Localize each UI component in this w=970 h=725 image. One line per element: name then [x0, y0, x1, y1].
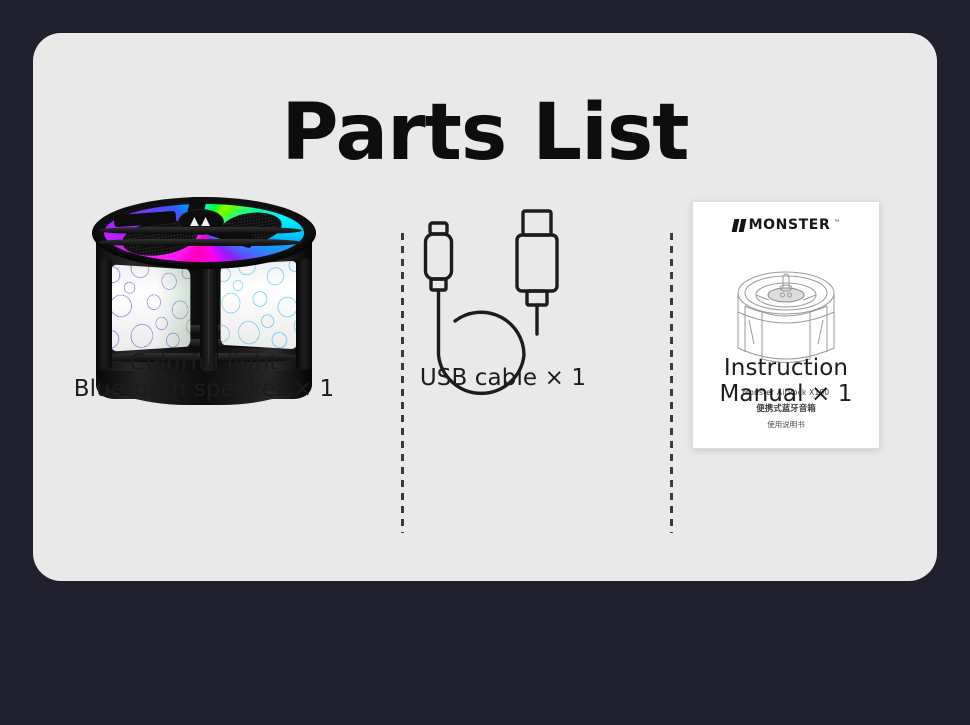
trademark-symbol: ™ — [834, 219, 839, 225]
part-caption-manual: Instruction Manual × 1 — [641, 355, 931, 407]
manual-artwork: MONSTER ™ — [641, 193, 931, 455]
manual-doctype-cn: 使用说明书 — [693, 419, 879, 430]
part-caption-speaker: Colorful light Bluetooth speaker × 1 — [37, 350, 371, 402]
instruction-manual-image: MONSTER ™ — [692, 201, 880, 449]
speaker-artwork — [37, 193, 371, 455]
part-item-usb-cable: USB cable × 1 — [373, 193, 633, 563]
parts-items: Colorful light Bluetooth speaker × 1 — [33, 193, 937, 563]
usb-cable-artwork — [373, 193, 633, 455]
caption-line-2: Bluetooth speaker × 1 — [37, 376, 371, 402]
part-caption-usb-cable: USB cable × 1 — [373, 365, 633, 391]
panel-shading — [221, 261, 300, 350]
panel-shading — [108, 264, 190, 352]
speaker-rib — [98, 227, 302, 234]
caption-line-1: Colorful light — [37, 350, 371, 376]
caption-line-2: Manual × 1 — [641, 381, 931, 407]
monster-mark-icon — [733, 219, 745, 232]
light-panel-left — [108, 264, 190, 352]
part-item-speaker: Colorful light Bluetooth speaker × 1 — [37, 193, 371, 563]
speaker-rib — [98, 239, 302, 246]
part-item-manual: MONSTER ™ — [641, 193, 931, 563]
light-panel-right — [221, 261, 300, 350]
monster-brand-logo: MONSTER ™ — [693, 217, 879, 233]
caption-line-1: Instruction — [641, 355, 931, 381]
page-title: Parts List — [33, 88, 937, 178]
caption-line-1: USB cable × 1 — [373, 365, 633, 391]
parts-list-card: Parts List — [33, 33, 937, 581]
brand-wordmark: MONSTER — [749, 217, 831, 233]
